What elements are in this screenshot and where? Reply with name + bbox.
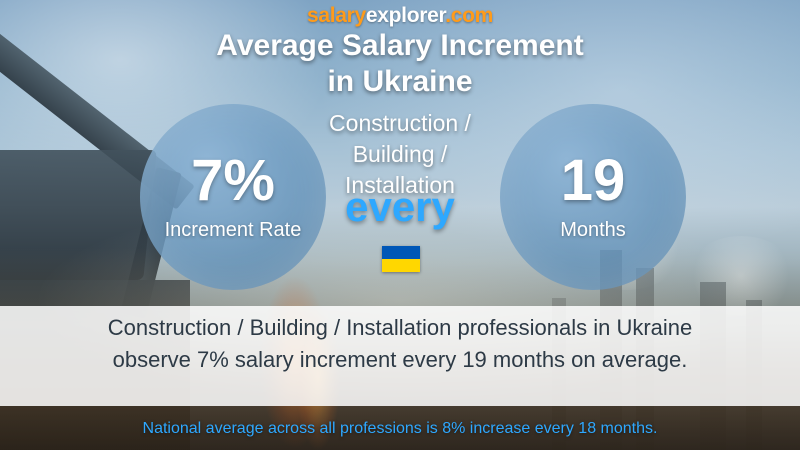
stat-bubble-months: 19 Months bbox=[500, 104, 686, 290]
ukraine-flag-icon bbox=[382, 246, 420, 272]
increment-rate-value: 7% bbox=[191, 152, 275, 210]
increment-rate-label: Increment Rate bbox=[165, 218, 302, 242]
footnote-text: National average across all professions … bbox=[0, 420, 800, 438]
site-logo: salaryexplorer.com bbox=[0, 4, 800, 28]
stat-bubble-increment-rate: 7% Increment Rate bbox=[140, 104, 326, 290]
logo-text-explorer: explorer bbox=[366, 4, 445, 27]
page-title-line-1: Average Salary Increment bbox=[0, 28, 800, 64]
logo-text-salary: salary bbox=[307, 4, 366, 27]
summary-text: Construction / Building / Installation p… bbox=[0, 312, 800, 376]
summary-line-1: Construction / Building / Installation p… bbox=[18, 312, 782, 344]
summary-line-2: observe 7% salary increment every 19 mon… bbox=[18, 344, 782, 376]
logo-text-domain: .com bbox=[445, 4, 493, 27]
infographic-canvas: salaryexplorer.com Average Salary Increm… bbox=[0, 0, 800, 450]
flag-stripe-yellow bbox=[382, 259, 420, 272]
job-category-line-1: Construction / bbox=[0, 108, 800, 139]
months-value: 19 bbox=[561, 152, 626, 210]
months-label: Months bbox=[560, 218, 626, 242]
page-title-line-2: in Ukraine bbox=[0, 64, 800, 100]
page-title: Average Salary Increment in Ukraine bbox=[0, 28, 800, 100]
flag-stripe-blue bbox=[382, 246, 420, 259]
